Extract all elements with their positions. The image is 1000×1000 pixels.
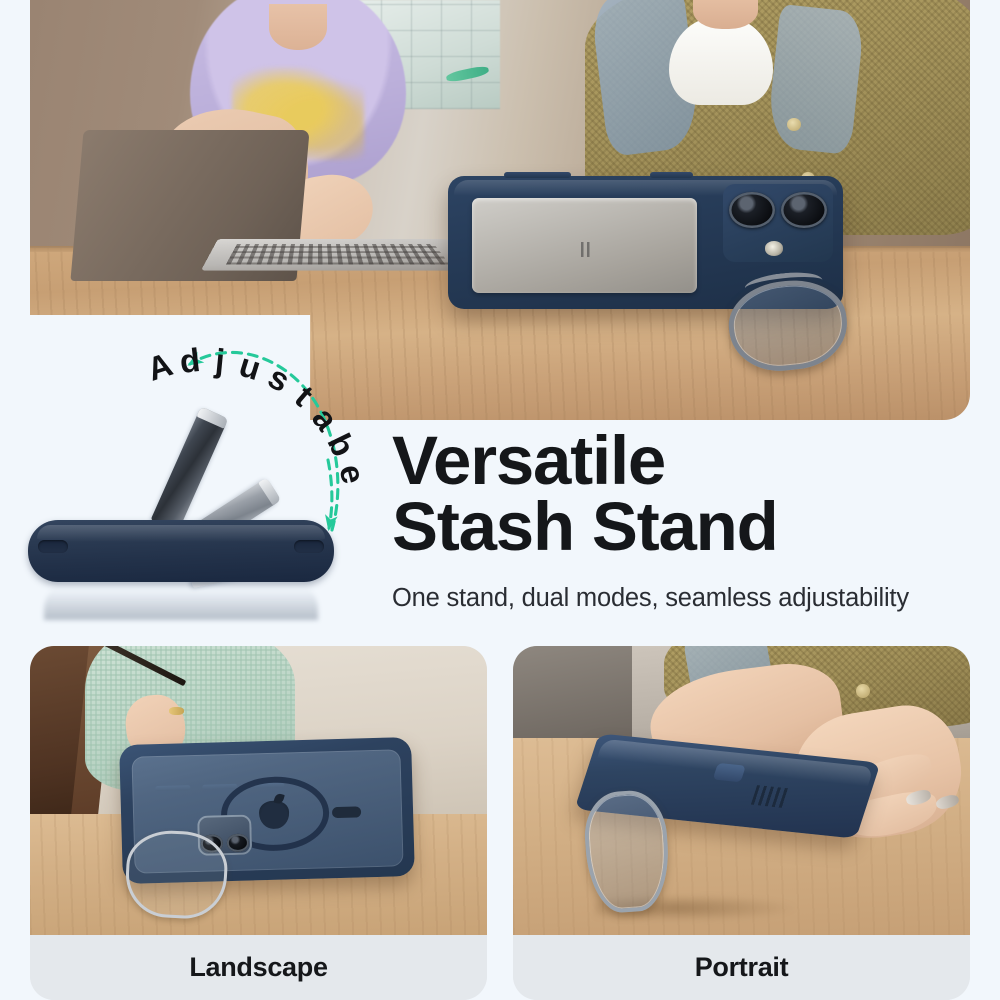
arc-label-char: d — [178, 341, 202, 381]
arc-label-char: u — [235, 346, 266, 388]
card-wall-dark — [513, 646, 632, 738]
arc-label-char: j — [214, 341, 227, 380]
arc-label-char: t — [287, 378, 320, 414]
hero-phone-buttons — [504, 172, 571, 179]
speaker-grille-icon — [751, 785, 791, 808]
hero-phone-assembly — [448, 176, 843, 378]
kickstand-loop — [124, 828, 229, 920]
hero-phone-button-secondary — [650, 172, 693, 179]
arc-label-char: e — [331, 460, 372, 487]
product-reflection — [44, 580, 318, 620]
card-caption-landscape: Landscape — [30, 935, 487, 1000]
headline-line-2: Stash Stand — [392, 494, 992, 560]
camera-lens-icon — [227, 834, 249, 852]
person-right-shirt — [669, 17, 772, 105]
finger-ring — [169, 707, 184, 716]
portrait-mode-photo — [513, 646, 970, 935]
case-side-notch-left — [38, 540, 68, 553]
marketing-page: A d j u s t a b e Versatile Stash Stand … — [0, 0, 1000, 1000]
mode-card-portrait[interactable]: Portrait — [513, 646, 970, 1000]
cardigan-button — [787, 118, 801, 131]
mode-card-landscape[interactable]: Landscape — [30, 646, 487, 1000]
arc-label-char: b — [320, 427, 363, 462]
arc-label-char: s — [261, 358, 295, 400]
person-right-lapel-right — [765, 4, 864, 155]
page-subtitle: One stand, dual modes, seamless adjustab… — [392, 584, 992, 613]
arc-label-char: a — [304, 400, 345, 438]
caption-label: Portrait — [695, 952, 789, 983]
laptop-keyboard — [226, 244, 450, 264]
page-title: Versatile Stash Stand — [392, 428, 992, 559]
adjustable-curved-label: A d j u s t a b e — [196, 338, 376, 538]
esr-logo-icon — [575, 242, 595, 257]
person-left-neck — [269, 4, 327, 50]
hero-camera-module — [723, 184, 834, 261]
camera-flash-icon — [765, 241, 784, 256]
caption-label: Landscape — [189, 952, 327, 983]
case-slot — [332, 807, 362, 818]
phone-button — [712, 763, 746, 783]
card-caption-portrait: Portrait — [513, 935, 970, 1000]
hero-power-bank — [472, 198, 697, 294]
landscape-mode-photo — [30, 646, 487, 935]
camera-lens-icon — [729, 192, 774, 228]
camera-lens-icon — [781, 192, 826, 228]
